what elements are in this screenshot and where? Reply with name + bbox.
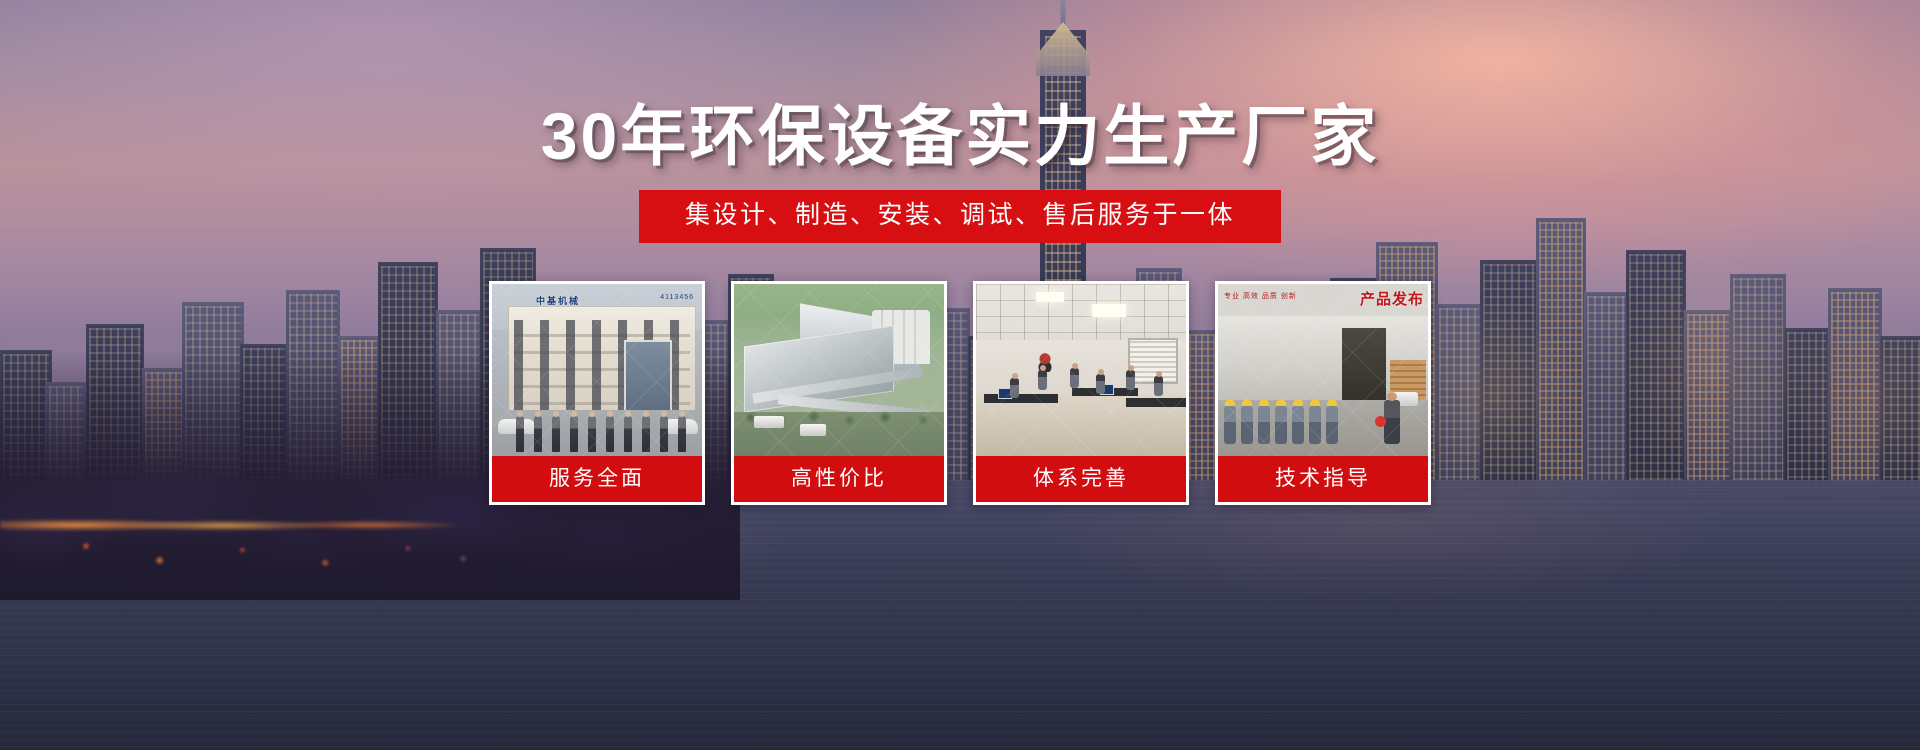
workshop-slogan-text: 产品发布: [1360, 288, 1424, 309]
building-plate-text: 4113456: [660, 294, 694, 301]
building-sign-text: 中基机械: [536, 294, 580, 307]
subtitle-bar-wrapper: 集设计、制造、安装、调试、售后服务于一体: [0, 190, 1920, 243]
feature-card-label: 服务全面: [492, 456, 702, 502]
feature-card-row: 中基机械 4113456 服务全面: [0, 281, 1920, 505]
company-building-photo: 中基机械 4113456: [492, 284, 702, 456]
park-lights: [40, 534, 500, 574]
banner-headline: 30年环保设备实力生产厂家: [0, 103, 1920, 169]
feature-card[interactable]: 产品发布 专业 高效 品质 创新 技术指导: [1215, 281, 1431, 505]
office-interior-photo: [976, 284, 1186, 456]
feature-card[interactable]: 高性价比: [731, 281, 947, 505]
feature-card-label: 高性价比: [734, 456, 944, 502]
feature-card[interactable]: 中基机械 4113456 服务全面: [489, 281, 705, 505]
workshop-workers-photo: 产品发布 专业 高效 品质 创新: [1218, 284, 1428, 456]
workshop-slogan-small-text: 专业 高效 品质 创新: [1224, 292, 1297, 303]
feature-card-label: 体系完善: [976, 456, 1186, 502]
hero-banner: 30年环保设备实力生产厂家 集设计、制造、安装、调试、售后服务于一体 中基机械 …: [0, 0, 1920, 750]
aerial-factory-photo: [734, 284, 944, 456]
feature-card-label: 技术指导: [1218, 456, 1428, 502]
banner-subtitle-bar: 集设计、制造、安装、调试、售后服务于一体: [639, 190, 1281, 243]
feature-card[interactable]: 体系完善: [973, 281, 1189, 505]
